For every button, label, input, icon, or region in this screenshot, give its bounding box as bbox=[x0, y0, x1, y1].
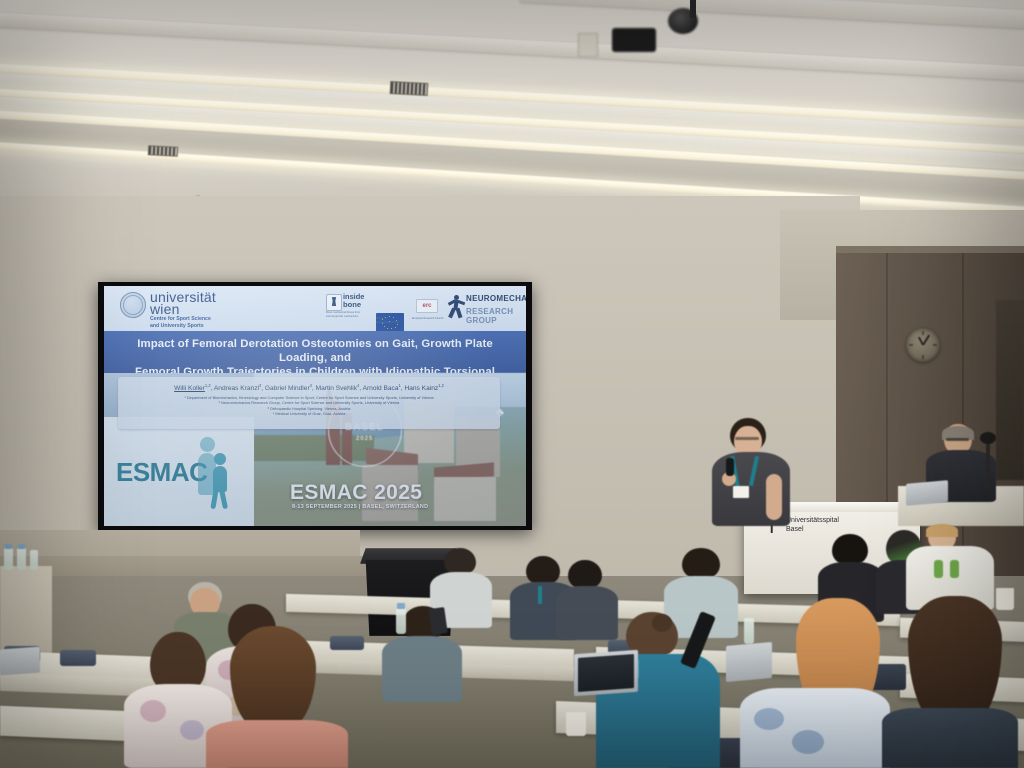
slide-title-line1: Impact of Femoral Derotation Osteotomies… bbox=[112, 338, 518, 366]
torso bbox=[882, 708, 1018, 768]
university-seal-icon bbox=[120, 292, 146, 318]
mic-head-icon bbox=[980, 432, 996, 444]
erc-caption: European Research Council bbox=[412, 317, 443, 320]
hair bbox=[568, 560, 602, 588]
water-bottle bbox=[17, 548, 26, 570]
projection-screen: universität wien Centre for Sport Scienc… bbox=[98, 282, 532, 530]
esmac-figure-head bbox=[200, 437, 215, 452]
bone-icon bbox=[326, 294, 342, 311]
university-name-line2: wien bbox=[150, 303, 180, 316]
floral-pattern bbox=[140, 700, 166, 722]
torso bbox=[206, 720, 348, 768]
torso bbox=[382, 636, 462, 702]
hair bbox=[444, 548, 476, 574]
air-vent-icon bbox=[148, 145, 178, 157]
laptop-screen bbox=[578, 654, 634, 692]
camera-mount bbox=[690, 0, 696, 18]
hair bbox=[832, 534, 868, 564]
water-bottle bbox=[4, 548, 13, 570]
paper-cup bbox=[996, 588, 1014, 610]
paper-cup bbox=[566, 712, 586, 736]
hair bbox=[526, 556, 560, 584]
shirt-graphic-icon bbox=[934, 560, 943, 578]
presenter-arm bbox=[766, 474, 782, 520]
microphone bbox=[726, 458, 734, 476]
slide-logo-bar: universität wien Centre for Sport Scienc… bbox=[104, 286, 526, 331]
lanyard bbox=[538, 586, 542, 604]
presenter bbox=[700, 418, 810, 528]
authors-card: Willi Koller1,2, Andreas Kranzl3, Gabrie… bbox=[118, 377, 500, 429]
esmac-logo-word: ESMAC bbox=[116, 457, 207, 488]
presentation-slide: universität wien Centre for Sport Scienc… bbox=[104, 286, 526, 526]
basel-photo-building bbox=[434, 477, 496, 521]
slide-body: BASEL 2025 ♣ ESMAC ESMAC 2025 bbox=[104, 373, 526, 526]
running-figure-icon bbox=[448, 295, 464, 319]
neuromechanics-line2: RESEARCH GROUP bbox=[466, 307, 526, 325]
esmac-logo-panel: ESMAC bbox=[104, 417, 254, 526]
erc-logo: erc bbox=[416, 299, 438, 313]
inside-bone-word2: bone bbox=[343, 301, 361, 308]
wall-trim bbox=[836, 246, 1024, 253]
hair bbox=[926, 524, 958, 537]
shirt-pattern bbox=[754, 708, 784, 730]
wall-panel bbox=[578, 33, 598, 57]
mic-stand bbox=[986, 440, 990, 488]
ceiling-camera-icon bbox=[612, 28, 656, 52]
esmac-figure-leg bbox=[219, 489, 228, 510]
audience-member bbox=[868, 596, 1018, 768]
bottle-cap bbox=[5, 544, 12, 549]
university-subtitle-line2: and University Sports bbox=[150, 324, 204, 330]
bottle-cap bbox=[397, 603, 405, 609]
phone bbox=[428, 607, 447, 635]
air-vent-icon bbox=[390, 81, 429, 96]
chair-laptop bbox=[906, 480, 948, 506]
bottle-cap bbox=[18, 544, 25, 549]
affiliation-4: ⁴ Medical University of Graz, Graz, Aust… bbox=[118, 411, 500, 416]
presenter-badge bbox=[733, 486, 749, 498]
eu-caption-line1: Funded by bbox=[376, 317, 388, 320]
audience-member bbox=[196, 626, 356, 768]
hair-knot bbox=[652, 614, 672, 632]
shirt-pattern bbox=[792, 730, 824, 754]
inside-bone-fine-line2: internal growth mechanisms bbox=[326, 316, 358, 319]
seat bbox=[60, 650, 96, 666]
presenter-glasses bbox=[735, 437, 759, 440]
conference-title: ESMAC 2025 bbox=[290, 481, 422, 505]
wall-clock-icon bbox=[906, 328, 940, 362]
water-bottle bbox=[744, 618, 754, 644]
audience-member bbox=[382, 606, 464, 702]
water-bottle bbox=[396, 608, 406, 634]
affiliations-block: ¹ Department of Biomechanics, Kinesiolog… bbox=[118, 395, 500, 416]
authors-line: Willi Koller1,2, Andreas Kranzl3, Gabrie… bbox=[118, 383, 500, 394]
lecture-hall-photo: universität wien Centre for Sport Scienc… bbox=[0, 0, 1024, 768]
audience-laptop bbox=[0, 647, 40, 676]
shirt-graphic-icon bbox=[950, 560, 959, 578]
esmac-figure-head bbox=[214, 453, 226, 465]
hair bbox=[682, 548, 720, 578]
slide-title-band: Impact of Femoral Derotation Osteotomies… bbox=[104, 331, 526, 373]
hair-long bbox=[230, 626, 316, 730]
chair-glasses bbox=[946, 438, 969, 441]
inside-bone-word1: inside bbox=[343, 293, 364, 300]
neuromechanics-line1: NEUROMECHANICS bbox=[466, 294, 526, 303]
basel-emblem-line2: 2025 bbox=[356, 436, 373, 442]
water-bottle bbox=[30, 550, 38, 570]
eu-caption-line2: the European Union bbox=[376, 321, 399, 324]
audience-laptop bbox=[726, 642, 772, 682]
conference-date: 8-13 SEPTEMBER 2025 | BASEL, SWITZERLAND bbox=[292, 504, 428, 510]
